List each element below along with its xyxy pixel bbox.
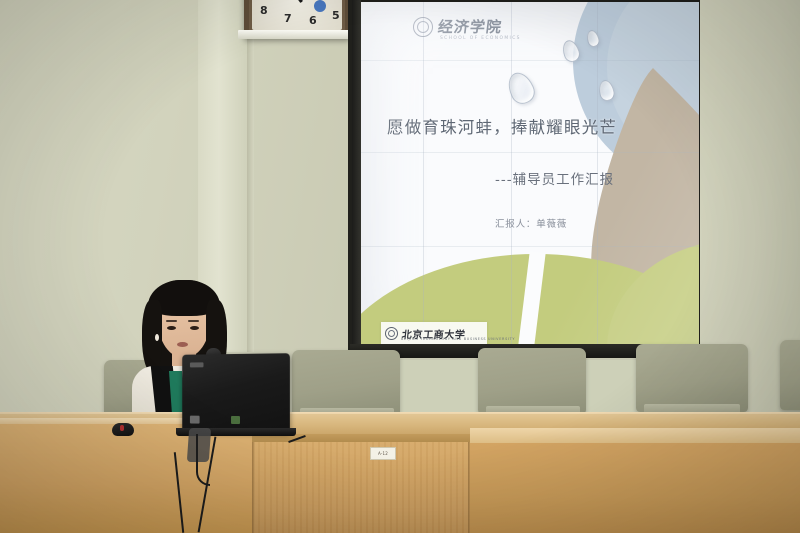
screen-grid-line [361,60,699,61]
screen-grid-line [361,246,699,247]
screen-grid-line [361,152,699,153]
clock-decoration-dot [314,0,326,12]
laptop-sticker [190,416,200,424]
clock-hour-hand [290,0,303,3]
chair [292,350,400,416]
front-desk-panel [470,443,800,533]
desk-seat-label: A-12 [370,447,396,460]
slide-subtitle: ---辅导员工作汇报 [495,168,614,188]
earring [155,334,159,341]
clock-numeral-8: 8 [260,4,268,17]
slide-org-logo: 经济学院 SCHOOL OF ECONOMICS [413,16,502,37]
chair [780,340,800,410]
photo-scene: 8 7 6 5 [0,0,800,533]
screen-grid-line [423,2,424,346]
eye [167,326,176,330]
laptop-sticker [231,416,240,424]
mouse-indicator-light [120,425,124,431]
eyebrow [188,320,199,322]
hair-left-side [142,300,162,372]
slide-org-logo-cn: 经济学院 [437,16,504,37]
laptop-brand-logo-icon [190,362,204,367]
slide-title: 愿做育珠河蚌，捧献耀眼光芒 [387,114,667,138]
university-seal-icon [385,327,398,340]
slide-footer-logo: 北京工商大学 BEIJING TECHNOLOGY AND BUSINESS U… [381,322,487,344]
clock-numeral-7: 7 [284,12,292,25]
clock-face: 8 7 6 5 [252,0,342,30]
chair [478,348,586,414]
projection-screen: 经济学院 SCHOOL OF ECONOMICS 愿做育珠河蚌，捧献耀眼光芒 -… [361,2,699,346]
front-desk-surface [470,428,800,444]
eyebrow [166,320,177,322]
laptop[interactable] [182,353,290,433]
slide-org-logo-en: SCHOOL OF ECONOMICS [440,36,521,41]
mouth [177,342,188,347]
clock-numeral-6: 6 [309,14,317,27]
screen-frame-left [352,0,361,354]
eye [190,326,199,330]
slide-presenter: 汇报人：单薇薇 [495,216,567,230]
clock-ledge [238,30,356,39]
wall-column-edge [247,0,254,352]
university-seal-icon [413,17,433,37]
water-drop-icon [504,69,539,108]
desk-panel-seam [252,442,255,533]
clock-numeral-5: 5 [332,9,340,22]
chair [636,344,748,412]
slide-footer-logo-en: BEIJING TECHNOLOGY AND BUSINESS UNIVERSI… [401,337,515,341]
